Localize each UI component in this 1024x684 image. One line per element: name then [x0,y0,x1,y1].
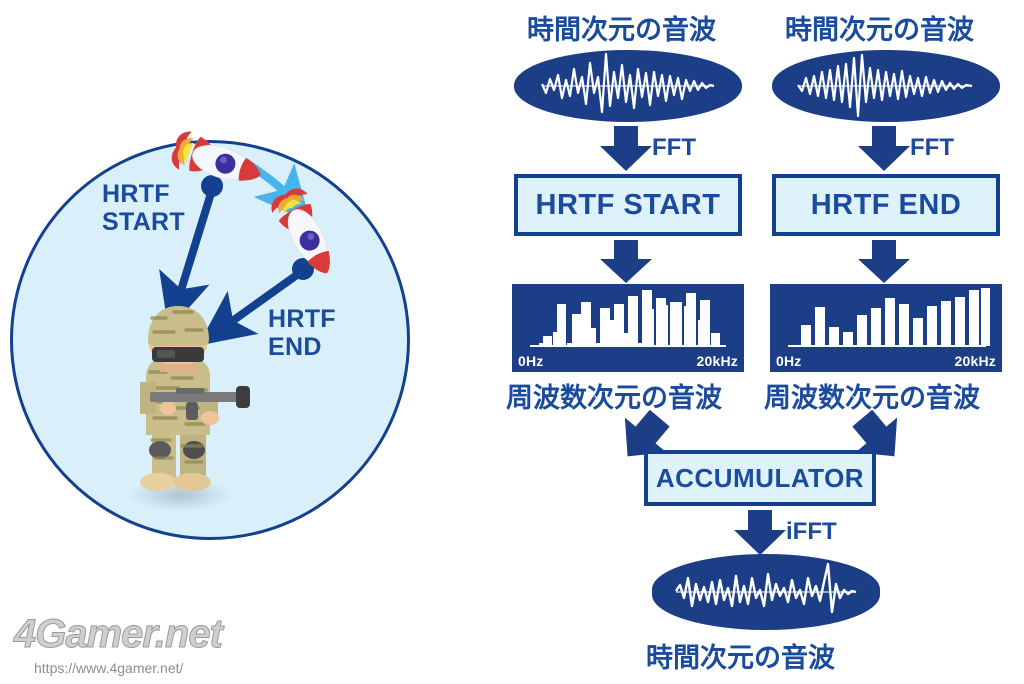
left-illustration-panel: HRTF START HRTF END [0,0,500,684]
waveform-start-oval [514,50,742,122]
hrtf-end-block-label: HRTF END [811,189,962,222]
hrtf-start-block-label: HRTF START [536,189,721,222]
spectrum-end-axis-max: 20kHz [955,353,996,369]
soldier-listener-icon [128,306,250,512]
waveform-end-plot [772,50,1000,122]
col-end-title-top: 時間次元の音波 [785,8,974,47]
left-scene-svg [0,0,500,684]
fft-label-end: FFT [910,134,954,162]
signal-flow-diagram: 時間次元の音波 FFT HRTF START [500,0,1024,684]
spectrum-start-box: 0Hz 20kHz [512,284,744,372]
hrtf-start-block[interactable]: HRTF START [514,174,742,236]
output-title: 時間次元の音波 [646,636,835,675]
accumulator-label: ACCUMULATOR [656,463,864,494]
spectrum-arrow-end [854,240,914,284]
watermark-brand: 4Gamer.net [14,612,222,657]
hrtf-end-annotation: HRTF END [268,305,336,361]
ifft-arrow [730,510,790,556]
waveform-end-oval [772,50,1000,122]
spectrum-start-axis-min: 0Hz [518,353,544,369]
spectrum-end-axis-min: 0Hz [776,353,802,369]
hrtf-end-block[interactable]: HRTF END [772,174,1000,236]
accumulator-block[interactable]: ACCUMULATOR [644,450,876,506]
ifft-label: iFFT [786,518,837,546]
fft-label-start: FFT [652,134,696,162]
waveform-output-oval [652,554,880,630]
fft-arrow-start [596,126,656,172]
watermark-url: https://www.4gamer.net/ [34,660,183,676]
col-start-title-top: 時間次元の音波 [527,8,716,47]
spectrum-start-axis-max: 20kHz [697,353,738,369]
spectrum-end-plot [770,284,1002,354]
fft-arrow-end [854,126,914,172]
spectrum-start-plot-b [512,284,744,354]
waveform-start-plot [514,50,742,122]
spectrum-arrow-start [596,240,656,284]
hrtf-start-annotation: HRTF START [102,180,185,236]
waveform-output-plot [652,554,880,630]
spectrum-end-box: 0Hz 20kHz [770,284,1002,372]
diagram-canvas: HRTF START HRTF END 4Gamer.net https://w… [0,0,1024,684]
